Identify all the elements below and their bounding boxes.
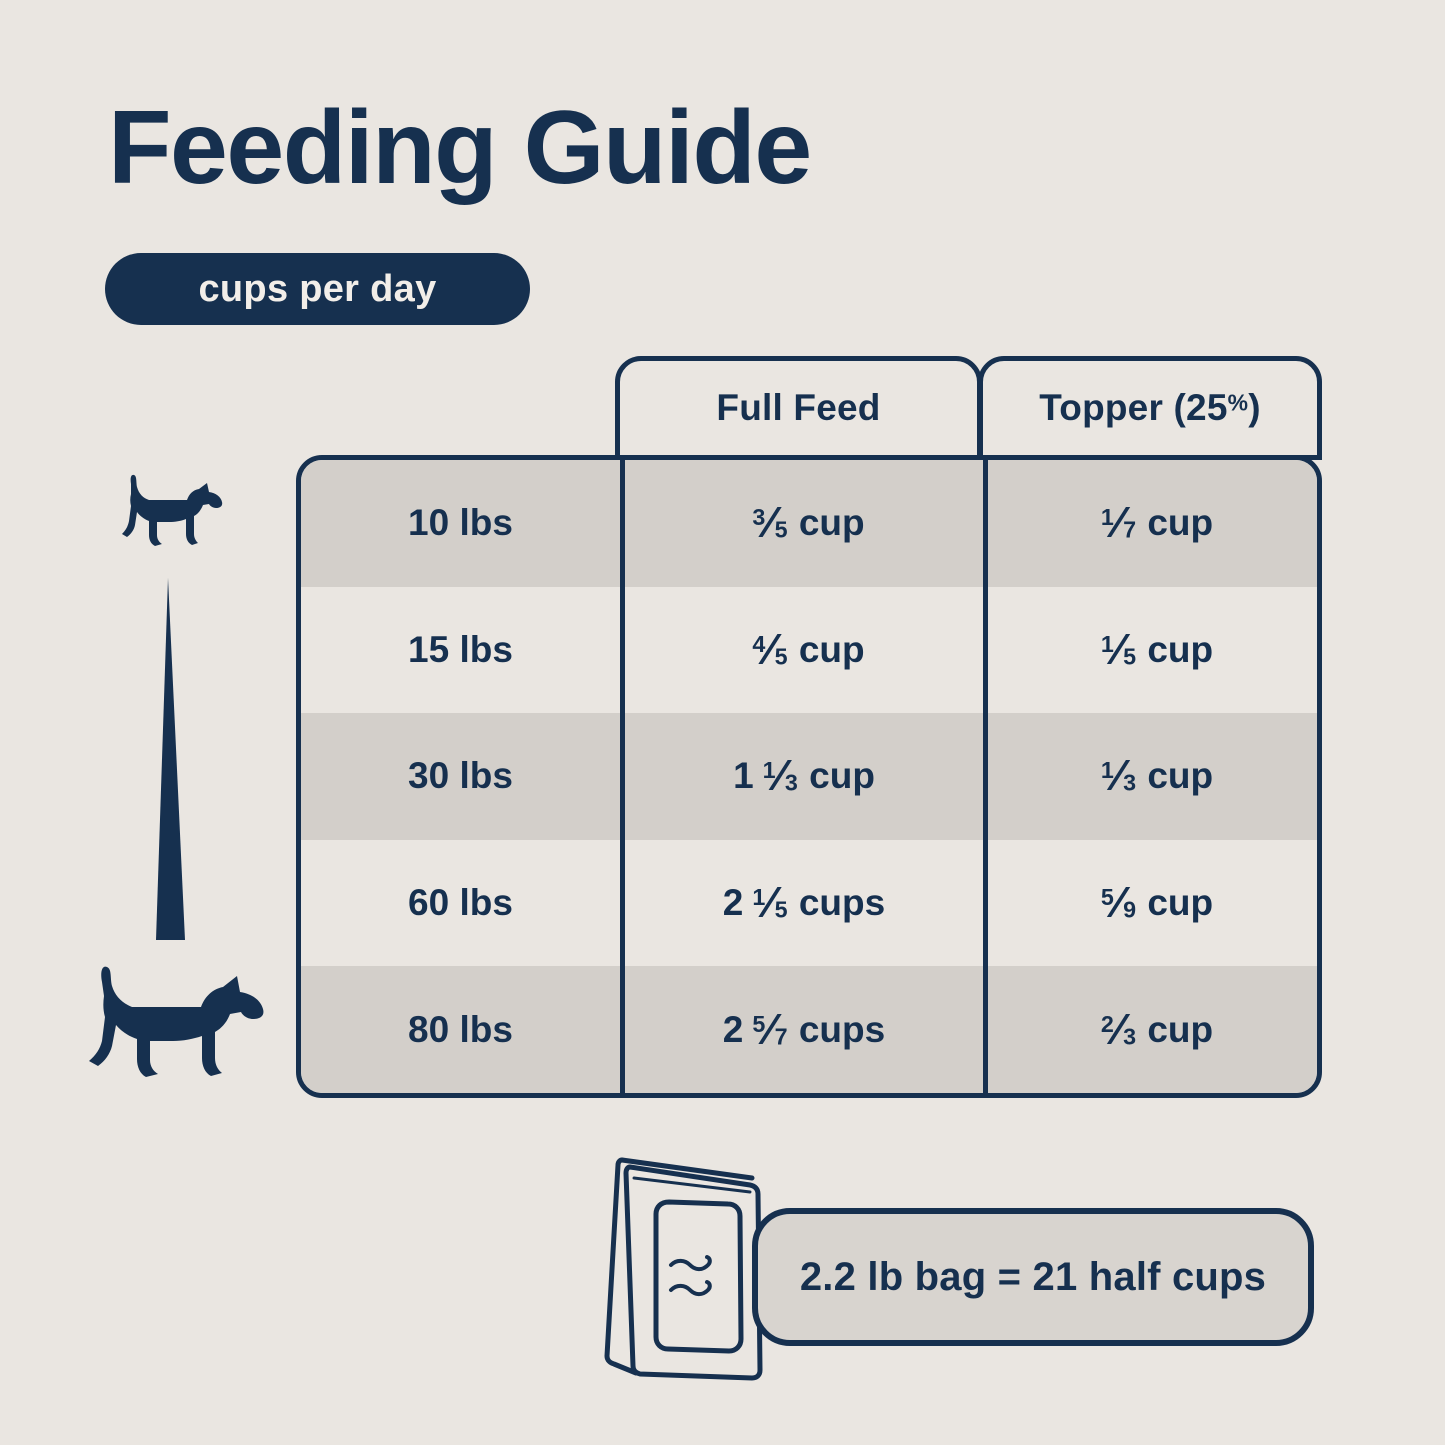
cell-full-feed: 3⁄5 cup bbox=[620, 460, 983, 587]
column-header-full-feed: Full Feed bbox=[615, 356, 982, 460]
cell-weight: 30 lbs bbox=[301, 713, 620, 840]
cell-topper: 1⁄5 cup bbox=[983, 587, 1317, 714]
cell-weight: 60 lbs bbox=[301, 840, 620, 967]
cell-full-feed: 11⁄3 cup bbox=[620, 713, 983, 840]
feeding-table: Full Feed Topper (25%) 10 lbs 3⁄5 cup 1⁄… bbox=[296, 356, 1322, 1098]
small-dog-silhouette-icon bbox=[117, 472, 225, 550]
table-row: 10 lbs 3⁄5 cup 1⁄7 cup bbox=[301, 460, 1317, 587]
cell-weight: 10 lbs bbox=[301, 460, 620, 587]
table-row: 30 lbs 11⁄3 cup 1⁄3 cup bbox=[301, 713, 1317, 840]
column-header-full-feed-label: Full Feed bbox=[716, 387, 880, 429]
column-header-topper-label: Topper (25%) bbox=[1039, 387, 1261, 429]
table-row: 60 lbs 21⁄5 cups 5⁄9 cup bbox=[301, 840, 1317, 967]
cell-topper: 1⁄3 cup bbox=[983, 713, 1317, 840]
page-title: Feeding Guide bbox=[108, 92, 811, 204]
cell-weight: 80 lbs bbox=[301, 966, 620, 1093]
feeding-guide-infographic: Feeding Guide cups per day Full Feed Top… bbox=[0, 0, 1445, 1445]
feeding-table-body: 10 lbs 3⁄5 cup 1⁄7 cup 15 lbs 4⁄5 cup 1⁄… bbox=[296, 455, 1322, 1098]
large-dog-silhouette-icon bbox=[77, 962, 269, 1082]
column-header-topper: Topper (25%) bbox=[978, 356, 1322, 460]
cell-full-feed: 25⁄7 cups bbox=[620, 966, 983, 1093]
cell-full-feed: 21⁄5 cups bbox=[620, 840, 983, 967]
cell-weight: 15 lbs bbox=[301, 587, 620, 714]
bag-yield-text: 2.2 lb bag = 21 half cups bbox=[800, 1255, 1266, 1300]
cups-per-day-badge: cups per day bbox=[105, 253, 530, 325]
cell-topper: 2⁄3 cup bbox=[983, 966, 1317, 1093]
table-row: 15 lbs 4⁄5 cup 1⁄5 cup bbox=[301, 587, 1317, 714]
cell-topper: 1⁄7 cup bbox=[983, 460, 1317, 587]
size-scale-wedge-icon bbox=[140, 578, 200, 940]
cell-full-feed: 4⁄5 cup bbox=[620, 587, 983, 714]
table-row: 80 lbs 25⁄7 cups 2⁄3 cup bbox=[301, 966, 1317, 1093]
bag-yield-callout: 2.2 lb bag = 21 half cups bbox=[752, 1208, 1314, 1346]
cell-topper: 5⁄9 cup bbox=[983, 840, 1317, 967]
badge-label: cups per day bbox=[198, 268, 436, 311]
